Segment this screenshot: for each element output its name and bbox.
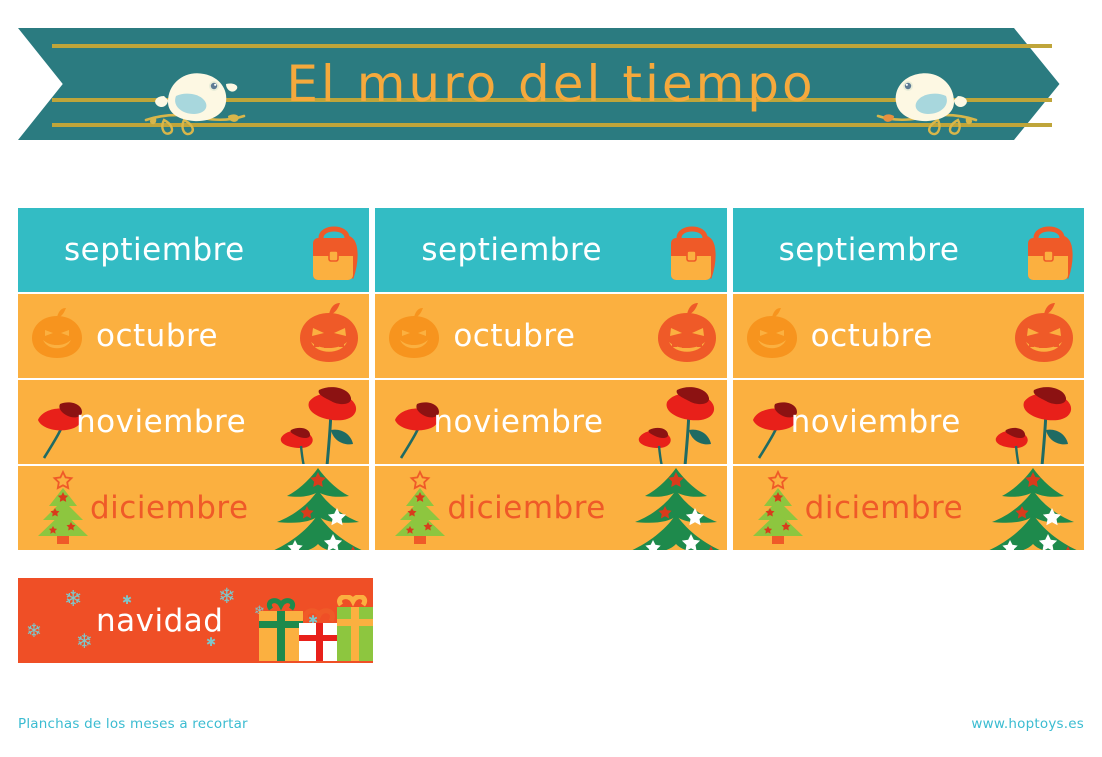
month-card-noviembre[interactable]: noviembre bbox=[18, 380, 369, 464]
christmas-tree-light-icon bbox=[745, 468, 811, 550]
month-card-diciembre[interactable]: diciembre bbox=[733, 466, 1084, 550]
poppy-right-icon bbox=[633, 380, 725, 464]
poppy-right-icon bbox=[990, 380, 1082, 464]
pumpkin-dark-icon bbox=[1010, 300, 1078, 370]
christmas-tree-light-icon bbox=[387, 468, 453, 550]
poppy-right-icon bbox=[275, 380, 367, 464]
month-card-noviembre[interactable]: noviembre bbox=[375, 380, 726, 464]
month-label: diciembre bbox=[90, 490, 249, 526]
month-card-octubre[interactable]: octubre bbox=[375, 294, 726, 378]
month-card-navidad[interactable]: ❄ ✱ ❄ ❄ ❄ ✱ ❄ ✱ navidad bbox=[18, 578, 373, 663]
month-cards-grid: septiembre septiembre septiembre bbox=[18, 208, 1084, 550]
month-label: diciembre bbox=[805, 490, 964, 526]
month-label: octubre bbox=[811, 318, 933, 354]
month-label: octubre bbox=[96, 318, 218, 354]
christmas-tree-dark-icon bbox=[267, 466, 369, 550]
month-card-septiembre[interactable]: septiembre bbox=[733, 208, 1084, 292]
christmas-tree-dark-icon bbox=[982, 466, 1084, 550]
month-label: septiembre bbox=[421, 232, 602, 268]
gift-boxes-icon bbox=[255, 595, 373, 663]
month-label: diciembre bbox=[447, 490, 606, 526]
month-label: septiembre bbox=[64, 232, 245, 268]
christmas-tree-light-icon bbox=[30, 468, 96, 550]
header-banner: El muro del tiempo bbox=[0, 28, 1102, 140]
footer-caption: Planchas de los meses a recortar bbox=[18, 716, 248, 732]
page-title: El muro del tiempo bbox=[0, 28, 1102, 140]
pumpkin-dark-icon bbox=[295, 300, 363, 370]
footer: Planchas de los meses a recortar www.hop… bbox=[0, 716, 1102, 740]
month-card-septiembre[interactable]: septiembre bbox=[375, 208, 726, 292]
month-card-noviembre[interactable]: noviembre bbox=[733, 380, 1084, 464]
month-label: noviembre bbox=[791, 404, 961, 440]
month-card-diciembre[interactable]: diciembre bbox=[375, 466, 726, 550]
month-label: octubre bbox=[453, 318, 575, 354]
month-card-octubre[interactable]: octubre bbox=[18, 294, 369, 378]
snowflake-icon: ❄ bbox=[76, 632, 93, 652]
pumpkin-light-icon bbox=[743, 304, 801, 364]
footer-website-link[interactable]: www.hoptoys.es bbox=[971, 716, 1084, 732]
month-card-septiembre[interactable]: septiembre bbox=[18, 208, 369, 292]
backpack-icon bbox=[303, 220, 365, 286]
snowflake-icon: ❄ bbox=[64, 588, 82, 610]
pumpkin-light-icon bbox=[385, 304, 443, 364]
pumpkin-dark-icon bbox=[653, 300, 721, 370]
backpack-icon bbox=[1018, 220, 1080, 286]
month-card-octubre[interactable]: octubre bbox=[733, 294, 1084, 378]
month-label: septiembre bbox=[779, 232, 960, 268]
month-card-diciembre[interactable]: diciembre bbox=[18, 466, 369, 550]
backpack-icon bbox=[661, 220, 723, 286]
pumpkin-light-icon bbox=[28, 304, 86, 364]
christmas-tree-dark-icon bbox=[625, 466, 727, 550]
snowflake-icon: ❄ bbox=[26, 622, 42, 641]
month-label: navidad bbox=[96, 603, 223, 639]
month-label: noviembre bbox=[433, 404, 603, 440]
month-label: noviembre bbox=[76, 404, 246, 440]
